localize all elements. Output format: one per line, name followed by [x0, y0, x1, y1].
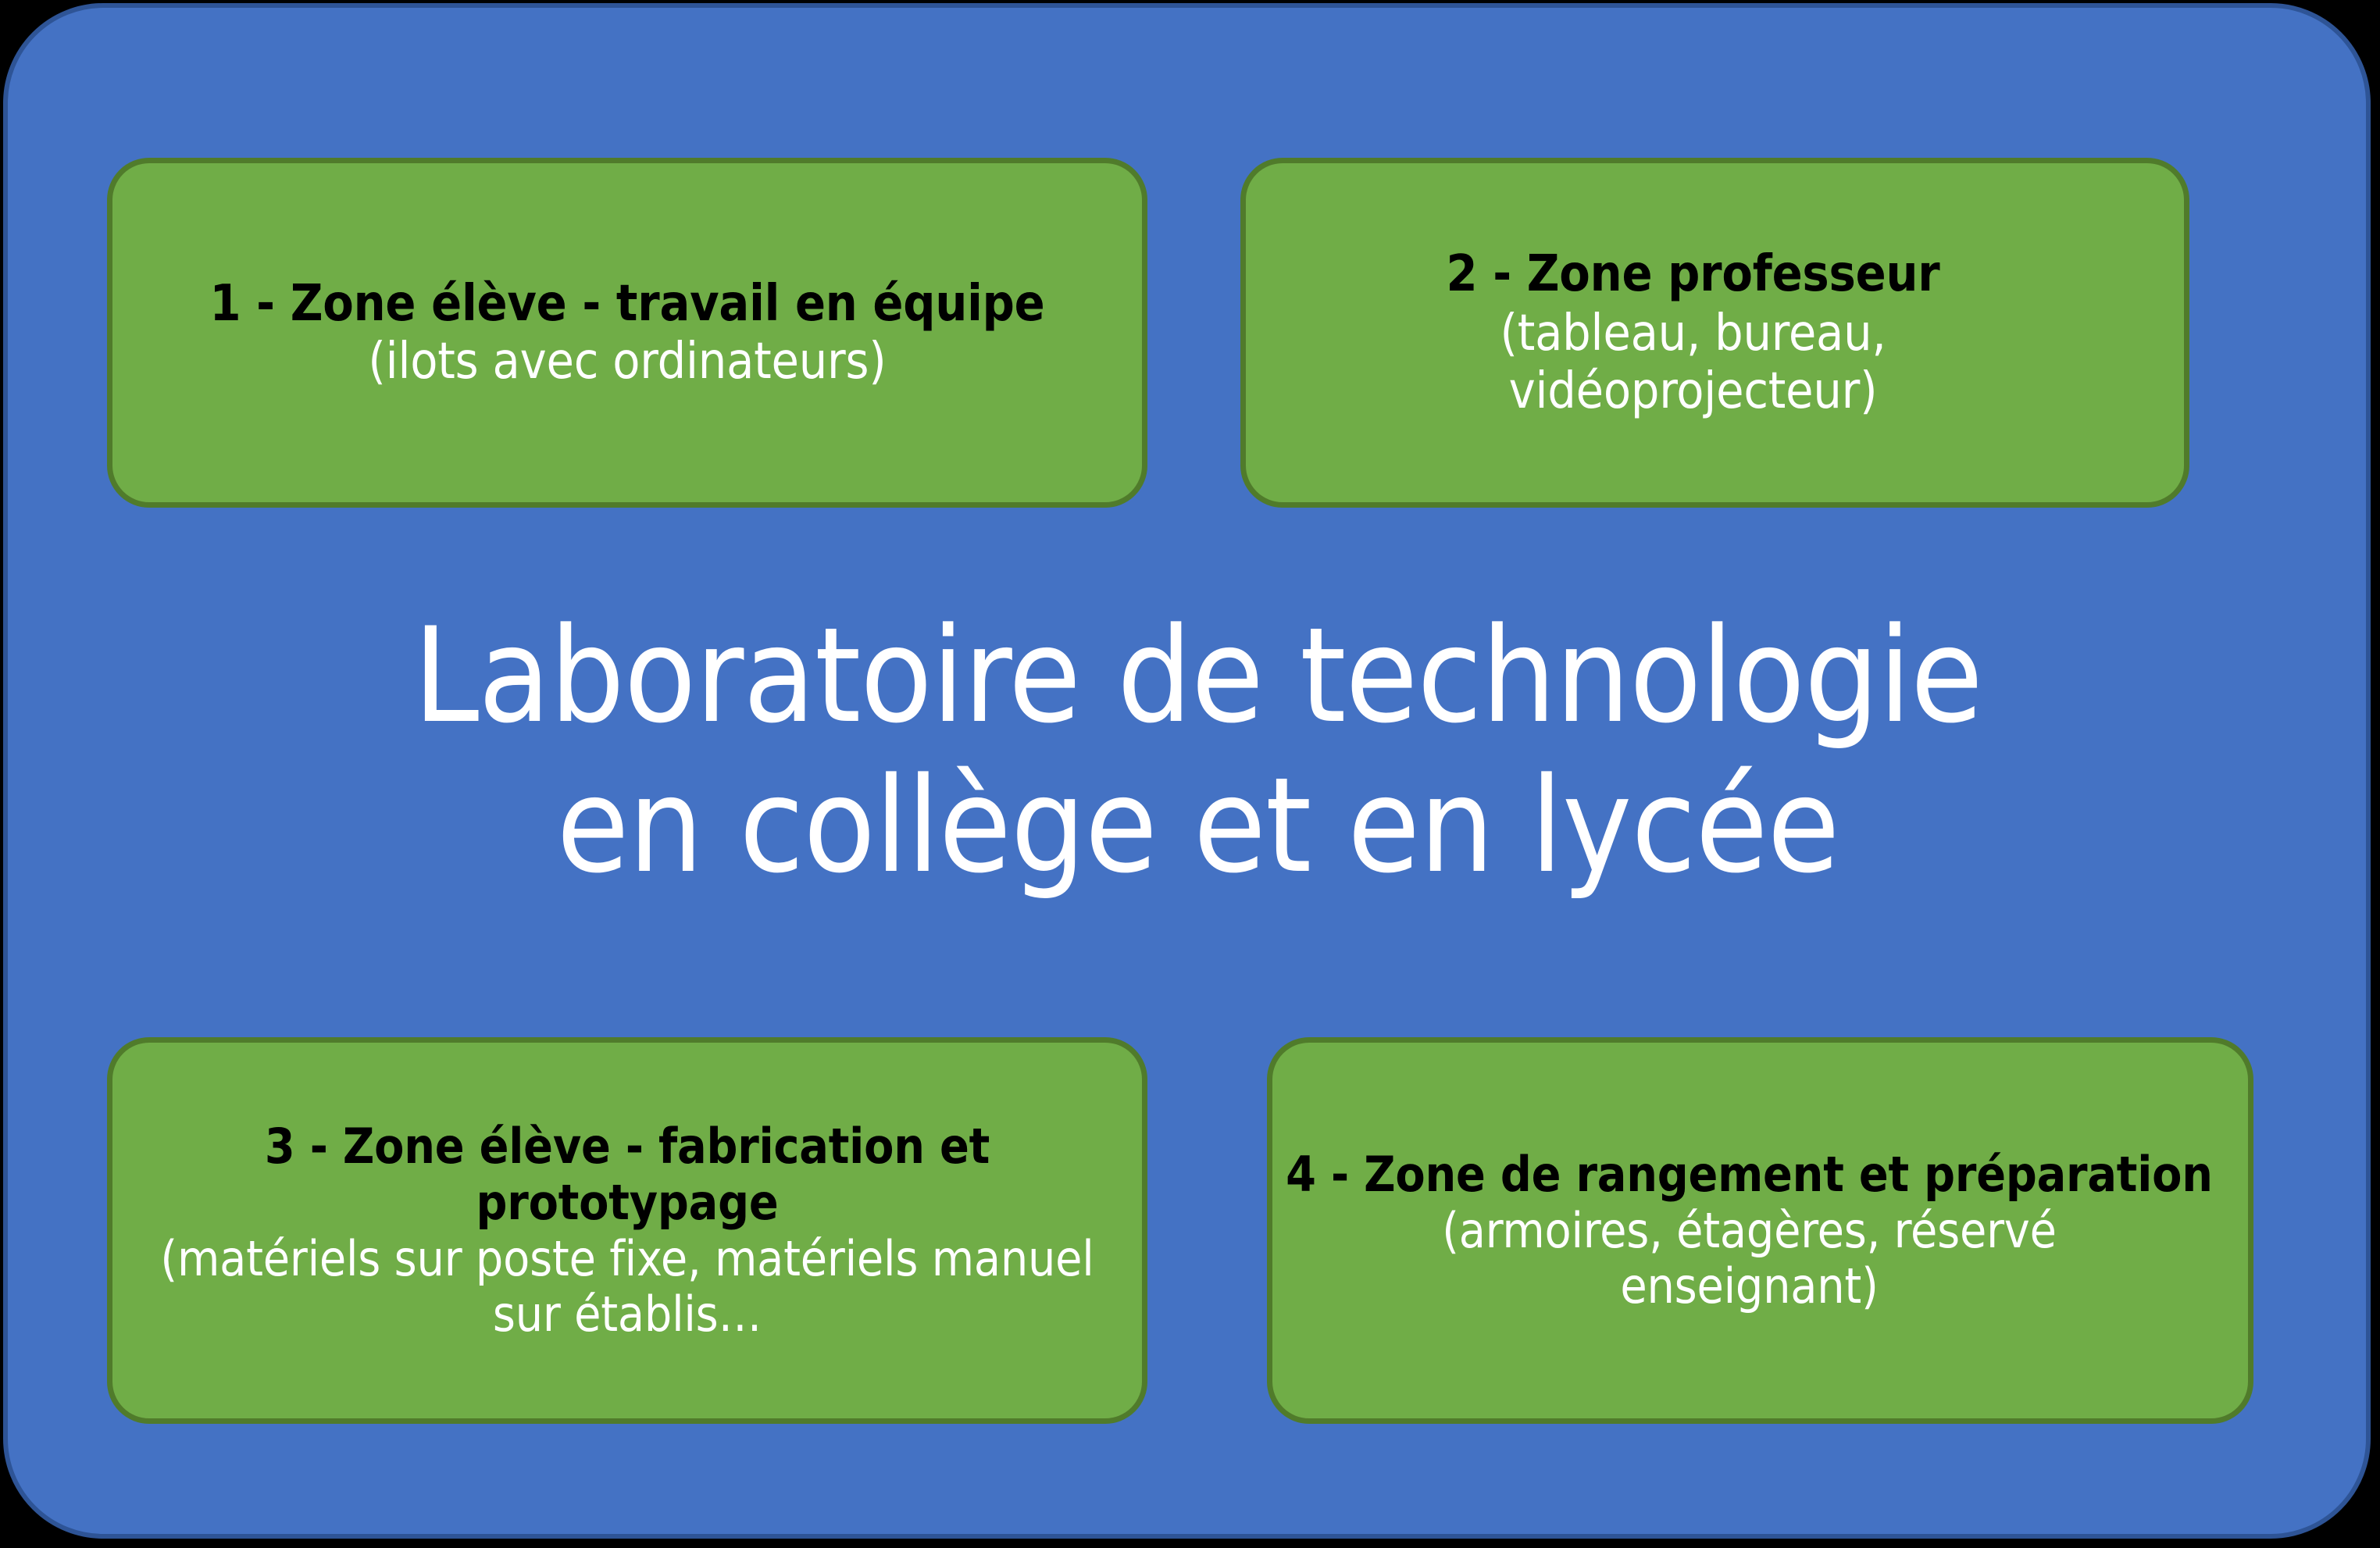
zone-3-subtitle: (matériels sur poste fixe, matériels man… [147, 1231, 1108, 1343]
zone-card-4[interactable]: 4 - Zone de rangement et préparation (ar… [1267, 1037, 2253, 1424]
diagram-canvas: 1 - Zone élève - travail en équipe (ilot… [0, 0, 2380, 1548]
zone-card-1[interactable]: 1 - Zone élève - travail en équipe (ilot… [107, 158, 1147, 508]
zone-3-text-stack: 3 - Zone élève - fabrication et prototyp… [133, 1118, 1122, 1343]
zone-1-text-stack: 1 - Zone élève - travail en équipe (ilot… [209, 275, 1044, 391]
zone-2-title: 2 - Zone professeur [1447, 245, 1940, 303]
zone-3-title: 3 - Zone élève - fabrication et prototyp… [133, 1118, 1122, 1231]
page-title: Laboratoire de technologie en collège et… [8, 601, 2380, 901]
zone-1-title: 1 - Zone élève - travail en équipe [209, 275, 1044, 333]
zone-2-subtitle: (tableau, bureau, vidéoprojecteur) [1428, 305, 1959, 420]
zone-4-text-stack: 4 - Zone de rangement et préparation (ar… [1286, 1147, 2213, 1315]
zone-2-text-stack: 2 - Zone professeur (tableau, bureau, vi… [1428, 245, 1959, 421]
page-title-line-1: Laboratoire de technologie [8, 601, 2380, 751]
zone-card-3[interactable]: 3 - Zone élève - fabrication et prototyp… [107, 1037, 1147, 1424]
zone-4-title: 4 - Zone de rangement et préparation [1286, 1147, 2213, 1203]
zone-4-subtitle: (armoires, étagères, réservé enseignant) [1351, 1203, 2147, 1315]
zone-1-subtitle: (ilots avec ordinateurs) [368, 333, 886, 391]
zone-card-2[interactable]: 2 - Zone professeur (tableau, bureau, vi… [1240, 158, 2189, 508]
page-title-line-2: en collège et en lycée [8, 751, 2380, 901]
laboratory-container: 1 - Zone élève - travail en équipe (ilot… [3, 3, 2371, 1539]
